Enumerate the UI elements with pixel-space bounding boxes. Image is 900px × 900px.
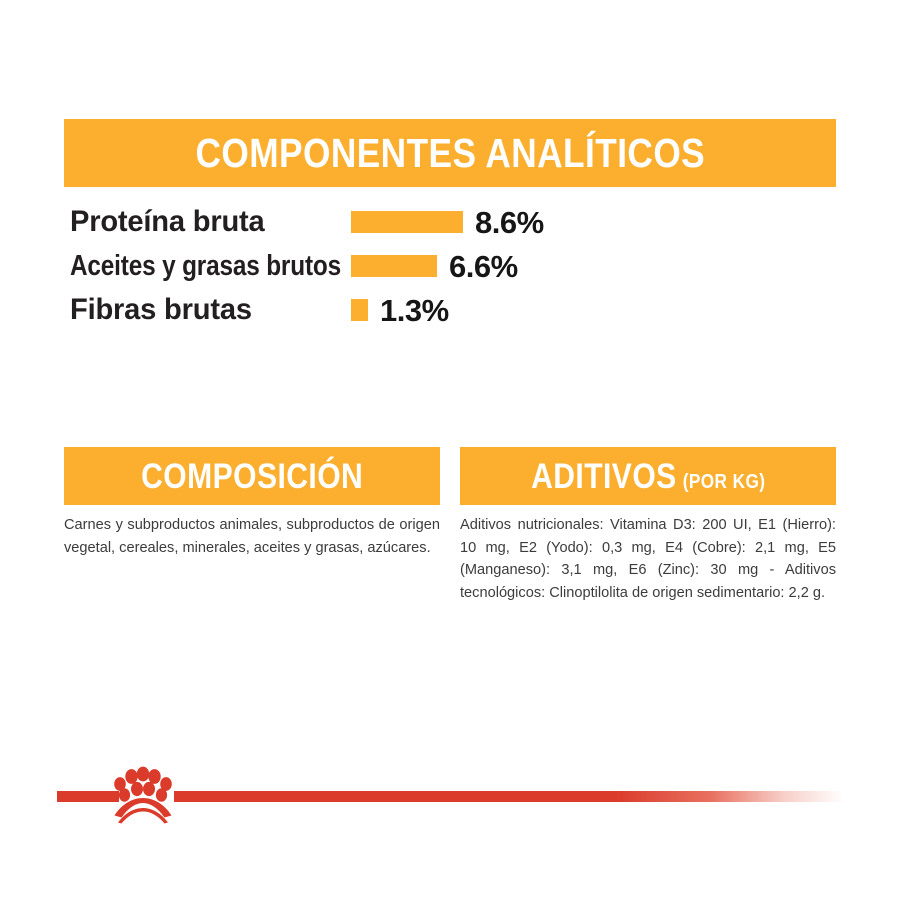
nutrient-row: Proteína bruta 8.6% (64, 200, 664, 244)
nutrient-label: Aceites y grasas brutos (70, 252, 347, 281)
nutrient-label: Fibras brutas (70, 295, 390, 325)
analytic-components-banner: COMPONENTES ANALÍTICOS (64, 119, 836, 187)
nutrient-row: Aceites y grasas brutos 6.6% (64, 244, 664, 288)
additives-subtitle: (por kg) (682, 472, 765, 492)
footer-rule-right (174, 791, 844, 802)
additives-banner: ADITIVOS (por kg) (460, 447, 836, 505)
footer (0, 760, 900, 830)
nutrient-bar-fill (351, 255, 437, 277)
composition-title: COMPOSICIÓN (141, 459, 363, 494)
nutrient-bar-fill (351, 211, 463, 233)
analytic-components-title: COMPONENTES ANALÍTICOS (195, 133, 705, 174)
analytic-components-chart: Proteína bruta 8.6% Aceites y grasas bru… (64, 200, 664, 332)
additives-title: ADITIVOS (531, 459, 677, 494)
nutrient-row: Fibras brutas 1.3% (64, 288, 664, 332)
additives-title-group: ADITIVOS (por kg) (531, 459, 765, 494)
nutrient-value: 6.6% (449, 251, 518, 282)
composition-banner: COMPOSICIÓN (64, 447, 440, 505)
nutrient-value: 8.6% (475, 207, 544, 238)
nutrient-bar-fill (351, 299, 368, 321)
royal-canin-paw-crown-icon (108, 762, 178, 824)
nutrition-panel: COMPONENTES ANALÍTICOS Proteína bruta 8.… (0, 0, 900, 900)
nutrient-value: 1.3% (380, 295, 449, 326)
additives-text: Aditivos nutricionales: Vitamina D3: 200… (460, 514, 836, 604)
composition-text: Carnes y subproductos animales, subprodu… (64, 514, 440, 559)
nutrient-label: Proteína bruta (70, 207, 390, 237)
